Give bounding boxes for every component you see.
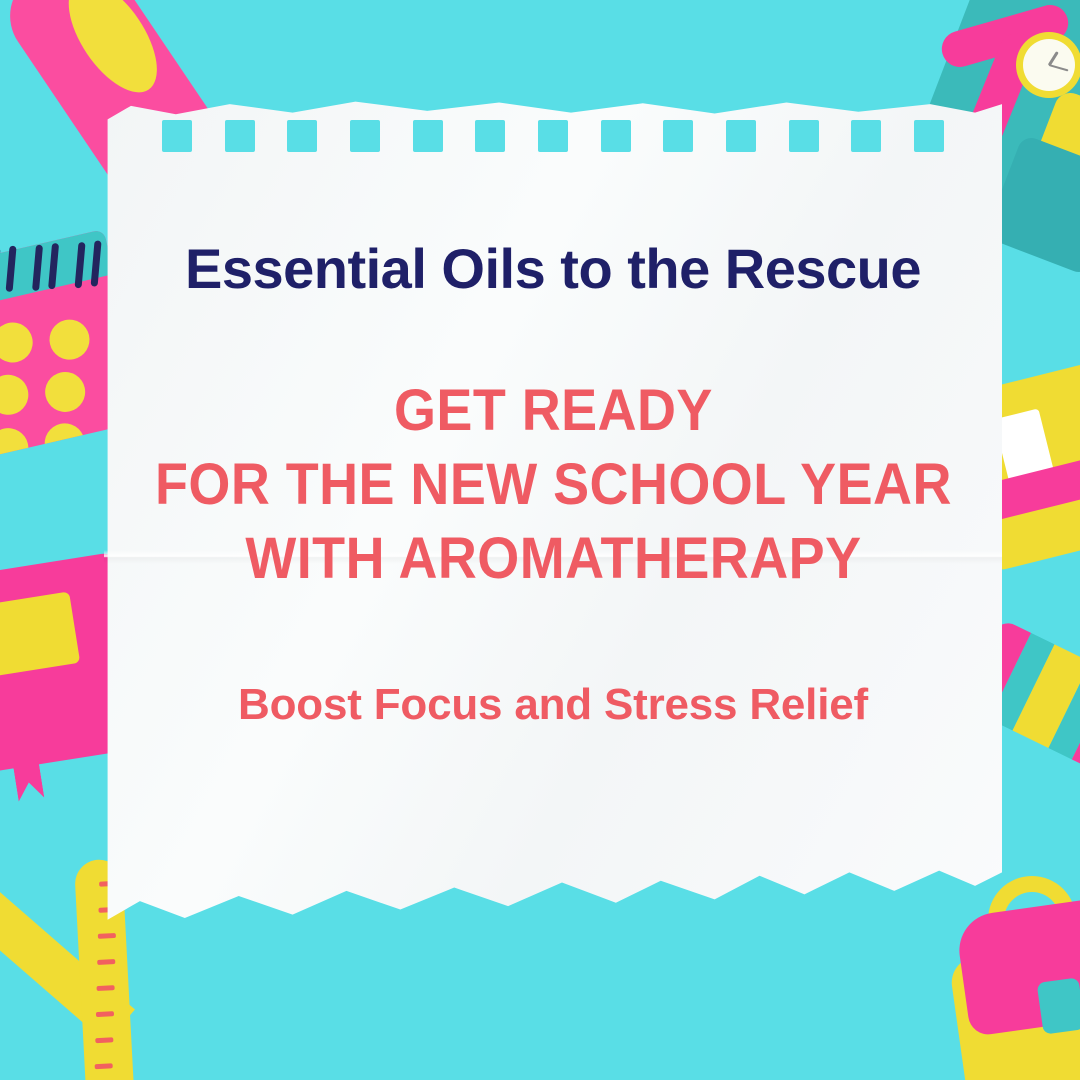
spiral-ring-icon bbox=[75, 242, 86, 288]
notebook-dot bbox=[0, 371, 32, 419]
spiral-ring-icon bbox=[91, 240, 102, 286]
ruler-tick bbox=[95, 1037, 113, 1043]
poster-content: Essential Oils to the Rescue GET READY F… bbox=[104, 94, 1002, 940]
book-label bbox=[0, 591, 80, 681]
notebook-dot bbox=[41, 419, 89, 462]
notebook-dot bbox=[46, 316, 94, 364]
notebook-dot bbox=[0, 424, 32, 463]
spiral-ring-icon bbox=[48, 243, 59, 289]
headline-line-3: WITH AROMATHERAPY bbox=[155, 522, 952, 596]
notebook-dot bbox=[41, 368, 89, 416]
page-title: Essential Oils to the Rescue bbox=[185, 238, 921, 300]
bag-clasp-icon bbox=[1037, 977, 1080, 1034]
poster-canvas: Essential Oils to the Rescue GET READY F… bbox=[0, 0, 1080, 1080]
spiral-ring-icon bbox=[32, 245, 43, 291]
notebook-dot bbox=[0, 318, 37, 366]
ruler-tick bbox=[96, 985, 114, 991]
clock-minute-hand bbox=[1049, 64, 1069, 71]
headline-line-2: FOR THE NEW SCHOOL YEAR bbox=[155, 448, 952, 522]
headline-block: GET READY FOR THE NEW SCHOOL YEAR WITH A… bbox=[155, 374, 952, 597]
subheadline: Boost Focus and Stress Relief bbox=[238, 680, 868, 730]
ruler-tick bbox=[96, 1011, 114, 1017]
spiral-ring-icon bbox=[0, 247, 1, 293]
ruler-tick bbox=[97, 959, 115, 965]
clock-face bbox=[1023, 39, 1075, 91]
headline-line-1: GET READY bbox=[155, 374, 952, 448]
spiral-ring-icon bbox=[6, 246, 17, 292]
ruler-tick bbox=[95, 1063, 113, 1069]
